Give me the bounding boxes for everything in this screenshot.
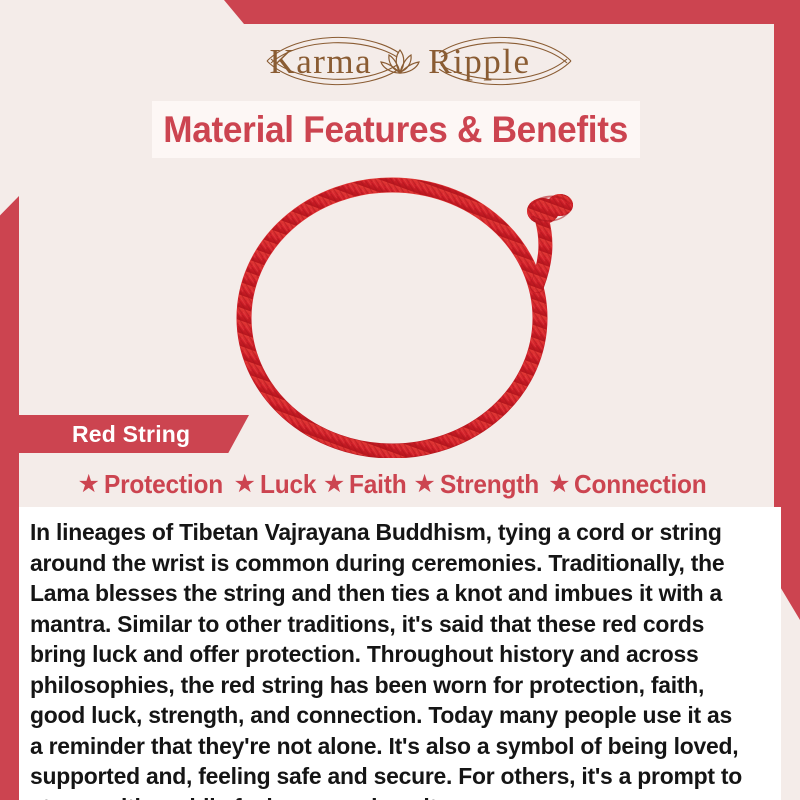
star-icon: ★ [548, 472, 570, 497]
decor-top-band [0, 0, 800, 24]
lotus-icon [378, 44, 422, 78]
benefit-item-protection: ★ Protection [78, 469, 231, 500]
benefit-item-luck: ★ Luck [234, 469, 320, 500]
benefit-item-connection: ★ Connection [548, 469, 715, 500]
red-string-bracelet-illustration [180, 158, 640, 458]
description-panel: In lineages of Tibetan Vajrayana Buddhis… [19, 507, 781, 800]
product-image [180, 158, 640, 458]
title-banner: Material Features & Benefits [152, 101, 640, 158]
benefit-label: Luck [260, 469, 316, 500]
brand-logo: Karma Ripple [0, 30, 800, 92]
description-text: In lineages of Tibetan Vajrayana Buddhis… [30, 517, 747, 800]
benefit-label: Protection [104, 469, 223, 500]
page-title: Material Features & Benefits [164, 109, 629, 151]
star-icon: ★ [323, 472, 345, 497]
decor-left-bar [0, 196, 19, 800]
star-icon: ★ [413, 472, 435, 497]
brand-word-right: Ripple [428, 44, 530, 79]
material-label: Red String [72, 421, 190, 448]
benefits-list: ★ Protection ★ Luck ★ Faith ★ Strength ★… [19, 464, 774, 504]
benefit-label: Faith [349, 469, 406, 500]
star-icon: ★ [78, 472, 100, 497]
infographic-page: Karma Ripple Material Features & Benefit… [0, 0, 800, 800]
benefit-label: Strength [440, 469, 539, 500]
decor-bottom-left-nub [0, 760, 19, 800]
brand-word-left: Karma [269, 44, 372, 79]
material-ribbon: Red String [19, 415, 249, 453]
benefit-label: Connection [574, 469, 707, 500]
star-icon: ★ [234, 472, 256, 497]
benefit-item-faith: ★ Faith [323, 469, 411, 500]
brand-logo-inner: Karma Ripple [269, 44, 530, 79]
benefit-item-strength: ★ Strength [413, 469, 545, 500]
